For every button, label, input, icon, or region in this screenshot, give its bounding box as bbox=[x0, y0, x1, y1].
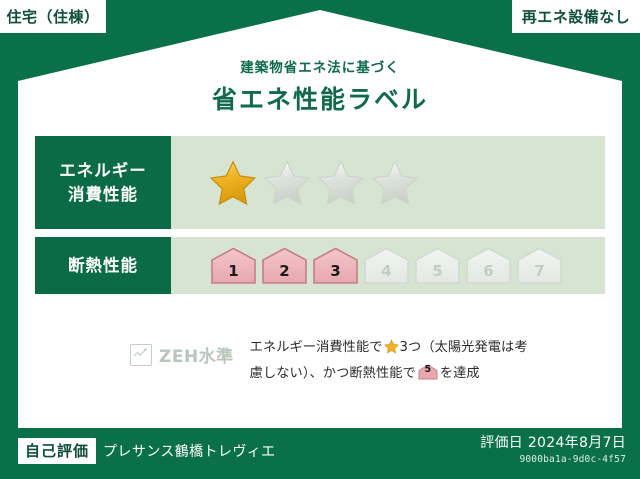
star-rating bbox=[209, 159, 419, 207]
zeh-section: ZEH水準 エネルギー消費性能で 3つ（太陽光発電は考慮しない）、かつ断熱性能で… bbox=[130, 336, 528, 385]
insulation-level-3: 3 bbox=[311, 246, 360, 286]
insulation-level-4: 4 bbox=[362, 246, 411, 286]
row-insulation-performance: 断熱性能 1234567 bbox=[35, 237, 605, 294]
insulation-level-1: 1 bbox=[209, 246, 258, 286]
row-insulation-label-line1: 断熱性能 bbox=[68, 254, 138, 278]
zeh-desc-part1: エネルギー消費性能で bbox=[250, 340, 383, 355]
row-energy-label-line2: 消費性能 bbox=[68, 183, 138, 207]
insulation-level-value: 3 bbox=[311, 262, 360, 280]
badge-building-type: 住宅（住棟） bbox=[0, 0, 106, 33]
building-name: プレサンス鶴橋トレヴィエ bbox=[103, 441, 276, 461]
insulation-level-value: 1 bbox=[209, 262, 258, 280]
insulation-level-value: 6 bbox=[464, 262, 513, 280]
insulation-level-7: 7 bbox=[515, 246, 564, 286]
star-icon-empty bbox=[263, 159, 311, 207]
footer-left: 自己評価 プレサンス鶴橋トレヴィエ bbox=[18, 438, 276, 464]
insulation-level-value: 2 bbox=[260, 262, 309, 280]
insulation-level-value: 7 bbox=[515, 262, 564, 280]
insulation-level-scale: 1234567 bbox=[209, 246, 564, 286]
star-icon bbox=[384, 339, 399, 362]
zeh-description: エネルギー消費性能で 3つ（太陽光発電は考慮しない）、かつ断熱性能で 5 を達成 bbox=[250, 336, 528, 385]
footer-right: 評価日 2024年8月7日 9000ba1a-9d0c-4f57 bbox=[480, 432, 626, 465]
insulation-level-6: 6 bbox=[464, 246, 513, 286]
insulation-level-value: 5 bbox=[413, 262, 462, 280]
row-insulation-label: 断熱性能 bbox=[35, 237, 171, 294]
badge-renewable-energy: 再エネ設備なし bbox=[512, 0, 640, 33]
insulation-level-value: 4 bbox=[362, 262, 411, 280]
insulation-level-5: 5 bbox=[413, 246, 462, 286]
title-subtitle: 建築物省エネ法に基づく bbox=[0, 56, 640, 76]
performance-rows: エネルギー 消費性能 断熱性能 1234567 bbox=[35, 136, 605, 302]
title-block: 建築物省エネ法に基づく 省エネ性能ラベル bbox=[0, 56, 640, 116]
label-id: 9000ba1a-9d0c-4f57 bbox=[480, 454, 626, 465]
star-icon-empty bbox=[317, 159, 365, 207]
zeh-checkbox-icon bbox=[130, 344, 152, 366]
evaluation-date: 評価日 2024年8月7日 bbox=[480, 432, 626, 452]
row-insulation-value: 1234567 bbox=[171, 237, 605, 294]
zeh-desc-part3: を達成 bbox=[440, 366, 480, 381]
self-evaluation-badge: 自己評価 bbox=[18, 438, 96, 464]
row-energy-label: エネルギー 消費性能 bbox=[35, 136, 171, 229]
title-main: 省エネ性能ラベル bbox=[0, 80, 640, 116]
footer: 自己評価 プレサンス鶴橋トレヴィエ 評価日 2024年8月7日 9000ba1a… bbox=[0, 428, 640, 479]
row-energy-performance: エネルギー 消費性能 bbox=[35, 136, 605, 229]
row-energy-label-line1: エネルギー bbox=[59, 159, 147, 183]
zeh-standard-label: ZEH水準 bbox=[159, 342, 234, 367]
row-energy-value bbox=[171, 136, 605, 229]
insulation-level-2: 2 bbox=[260, 246, 309, 286]
star-icon-empty bbox=[371, 159, 419, 207]
zeh-standard-badge: ZEH水準 bbox=[130, 342, 234, 367]
insulation-level-inline-badge: 5 bbox=[418, 364, 438, 380]
energy-performance-label: 住宅（住棟） 再エネ設備なし 建築物省エネ法に基づく 省エネ性能ラベル エネルギ… bbox=[0, 0, 640, 479]
insulation-level-inline-value: 5 bbox=[418, 362, 438, 379]
star-icon-filled bbox=[209, 159, 257, 207]
